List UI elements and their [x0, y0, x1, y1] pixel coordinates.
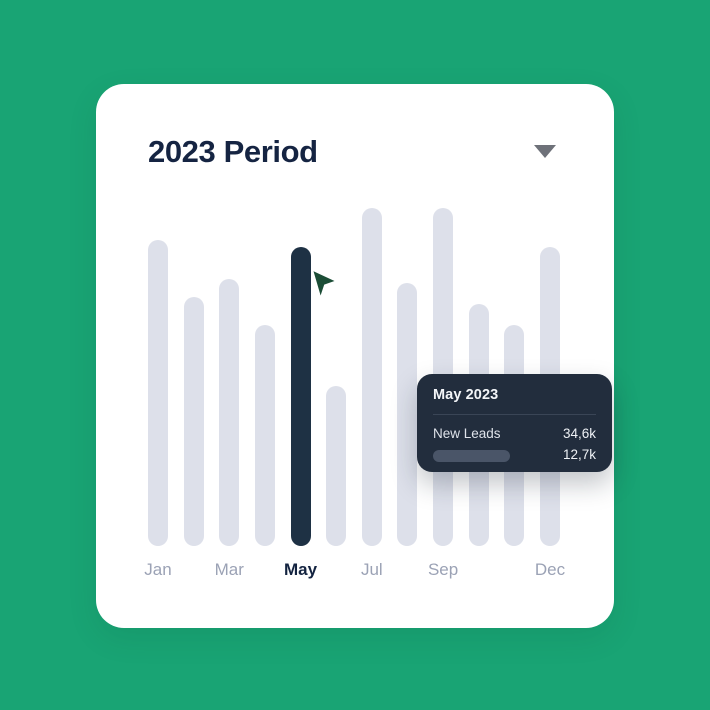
x-axis: JanMarMayJulSepDec — [148, 556, 560, 584]
tooltip-divider — [433, 414, 596, 415]
tooltip-title: May 2023 — [433, 387, 596, 404]
x-axis-label-mar[interactable]: Mar — [215, 556, 244, 584]
bar-series — [148, 190, 560, 546]
tooltip-rows: New Leads 34,6k 12,7k — [433, 424, 596, 466]
bar-aug[interactable] — [397, 283, 417, 546]
x-axis-label-dec[interactable]: Dec — [535, 556, 565, 584]
tooltip-row-value: 12,7k — [563, 447, 596, 463]
page-title: 2023 Period — [148, 136, 318, 167]
bar-jun[interactable] — [326, 386, 346, 546]
tooltip-row: 12,7k — [433, 445, 596, 466]
chevron-down-icon — [534, 145, 556, 158]
tooltip-row-label: New Leads — [433, 426, 501, 442]
bar-jul[interactable] — [362, 208, 382, 546]
bar-mar[interactable] — [219, 279, 239, 546]
tooltip-row-value: 34,6k — [563, 426, 596, 442]
bar-may[interactable] — [291, 247, 311, 546]
x-axis-label-may[interactable]: May — [284, 556, 317, 584]
bar-feb[interactable] — [184, 297, 204, 546]
chart-tooltip: May 2023 New Leads 34,6k 12,7k — [417, 374, 612, 472]
period-chart-card: 2023 Period JanMarMayJulSepDec May 2023 … — [96, 84, 614, 628]
bar-jan[interactable] — [148, 240, 168, 546]
card-header: 2023 Period — [148, 128, 562, 174]
x-axis-label-jul[interactable]: Jul — [361, 556, 383, 584]
x-axis-label-sep[interactable]: Sep — [428, 556, 458, 584]
screen-root: 2023 Period JanMarMayJulSepDec May 2023 … — [0, 0, 710, 710]
x-axis-label-jan[interactable]: Jan — [144, 556, 171, 584]
bar-chart — [148, 190, 560, 546]
tooltip-skeleton-placeholder — [433, 450, 510, 462]
tooltip-row: New Leads 34,6k — [433, 424, 596, 445]
period-dropdown-button[interactable] — [528, 134, 562, 168]
bar-apr[interactable] — [255, 325, 275, 546]
